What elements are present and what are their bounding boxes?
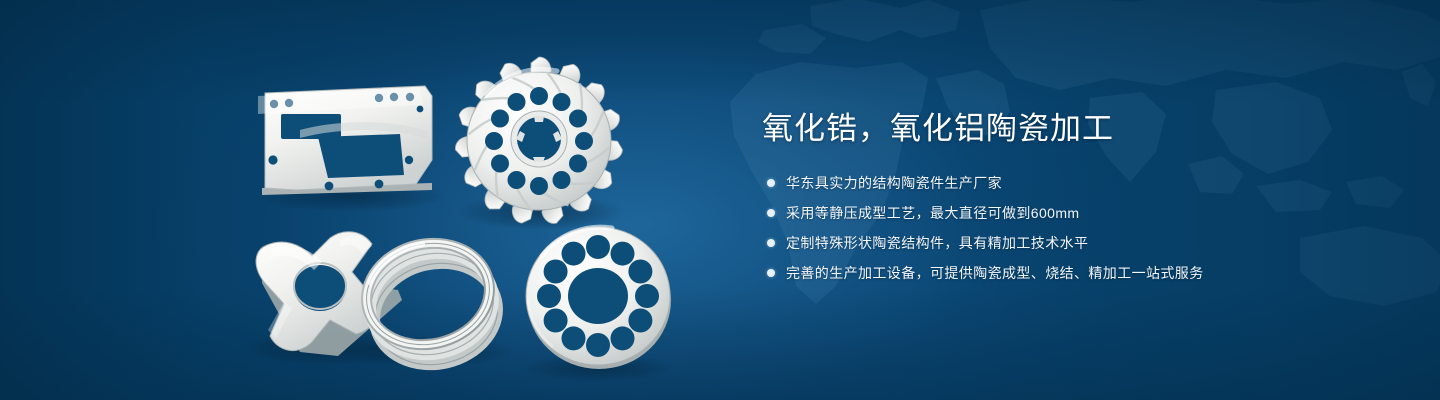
feature-text: 华东具实力的结构陶瓷件生产厂家 [786, 172, 1002, 194]
ceramic-products-photo [0, 0, 740, 400]
list-item: 定制特殊形状陶瓷结构件，具有精加工技术水平 [762, 232, 1382, 254]
feature-text: 完善的生产加工设备，可提供陶瓷成型、烧结、精加工一站式服务 [786, 262, 1204, 284]
list-item: 采用等静压成型工艺，最大直径可做到600mm [762, 202, 1382, 224]
bullet-dot-icon [767, 269, 775, 277]
page-title: 氧化锆，氧化铝陶瓷加工 [762, 108, 1382, 150]
list-item: 完善的生产加工设备，可提供陶瓷成型、烧结、精加工一站式服务 [762, 262, 1382, 284]
ceramic-processing-banner: 氧化锆，氧化铝陶瓷加工 华东具实力的结构陶瓷件生产厂家 采用等静压成型工艺，最大… [0, 0, 1440, 400]
ceramic-mounting-plate [258, 84, 440, 195]
feature-text: 定制特殊形状陶瓷结构件，具有精加工技术水平 [786, 232, 1088, 254]
bullet-dot-icon [767, 179, 775, 187]
list-item: 华东具实力的结构陶瓷件生产厂家 [762, 172, 1382, 194]
feature-text: 采用等静压成型工艺，最大直径可做到600mm [786, 202, 1079, 224]
feature-list: 华东具实力的结构陶瓷件生产厂家 采用等静压成型工艺，最大直径可做到600mm 定… [762, 172, 1382, 284]
banner-copy: 氧化锆，氧化铝陶瓷加工 华东具实力的结构陶瓷件生产厂家 采用等静压成型工艺，最大… [762, 108, 1382, 292]
ceramic-perforated-disc [526, 227, 671, 369]
bullet-dot-icon [767, 239, 775, 247]
bullet-dot-icon [767, 209, 775, 217]
